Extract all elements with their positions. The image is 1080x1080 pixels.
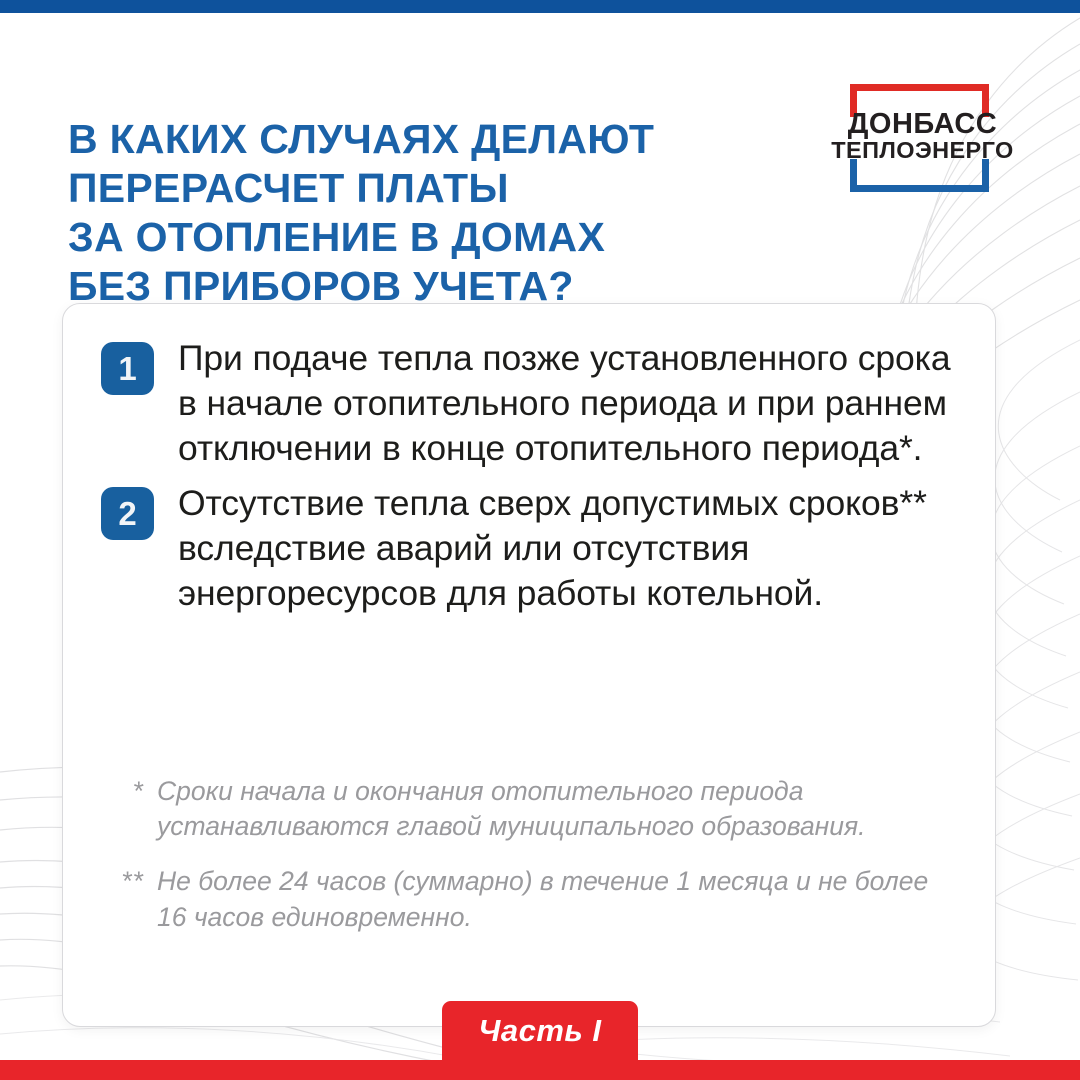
item-text: Отсутствие тепла сверх допустимых сроков…	[178, 481, 965, 616]
footnote: * Сроки начала и окончания отопительного…	[101, 774, 959, 844]
list-item: 1 При подаче тепла позже установленного …	[101, 336, 965, 471]
page-title-line-3: ЗА ОТОПЛЕНИЕ В ДОМАХ	[68, 213, 788, 262]
list-item: 2 Отсутствие тепла сверх допустимых срок…	[101, 481, 965, 616]
page-title-line-1: В КАКИХ СЛУЧАЯХ ДЕЛАЮТ	[68, 115, 788, 164]
part-badge: Часть I	[442, 1001, 638, 1060]
footnote-marker: **	[101, 864, 145, 899]
item-number-badge: 1	[101, 342, 154, 395]
footnotes: * Сроки начала и окончания отопительного…	[101, 774, 959, 955]
page-title-line-4: БЕЗ ПРИБОРОВ УЧЕТА?	[68, 262, 788, 311]
footnote-text: Сроки начала и окончания отопительного п…	[157, 774, 959, 844]
item-text: При подаче тепла позже установленного ср…	[178, 336, 965, 471]
footnote-text: Не более 24 часов (суммарно) в течение 1…	[157, 864, 959, 934]
bottom-accent-bar	[0, 1060, 1080, 1080]
page-title-line-2: ПЕРЕРАСЧЕТ ПЛАТЫ	[68, 164, 788, 213]
logo-bracket-bottom-icon	[850, 159, 989, 192]
footnote-marker: *	[101, 774, 145, 809]
item-number-badge: 2	[101, 487, 154, 540]
page-title: В КАКИХ СЛУЧАЯХ ДЕЛАЮТ ПЕРЕРАСЧЕТ ПЛАТЫ …	[68, 115, 788, 310]
footnote: ** Не более 24 часов (суммарно) в течени…	[101, 864, 959, 934]
top-accent-bar	[0, 0, 1080, 13]
infographic-canvas: В КАКИХ СЛУЧАЯХ ДЕЛАЮТ ПЕРЕРАСЧЕТ ПЛАТЫ …	[0, 0, 1080, 1080]
content-card: 1 При подаче тепла позже установленного …	[62, 303, 996, 1027]
numbered-list: 1 При подаче тепла позже установленного …	[101, 336, 965, 626]
donbass-teploenergo-logo: ДОНБАСС ТЕПЛОЭНЕРГО	[820, 82, 1025, 194]
